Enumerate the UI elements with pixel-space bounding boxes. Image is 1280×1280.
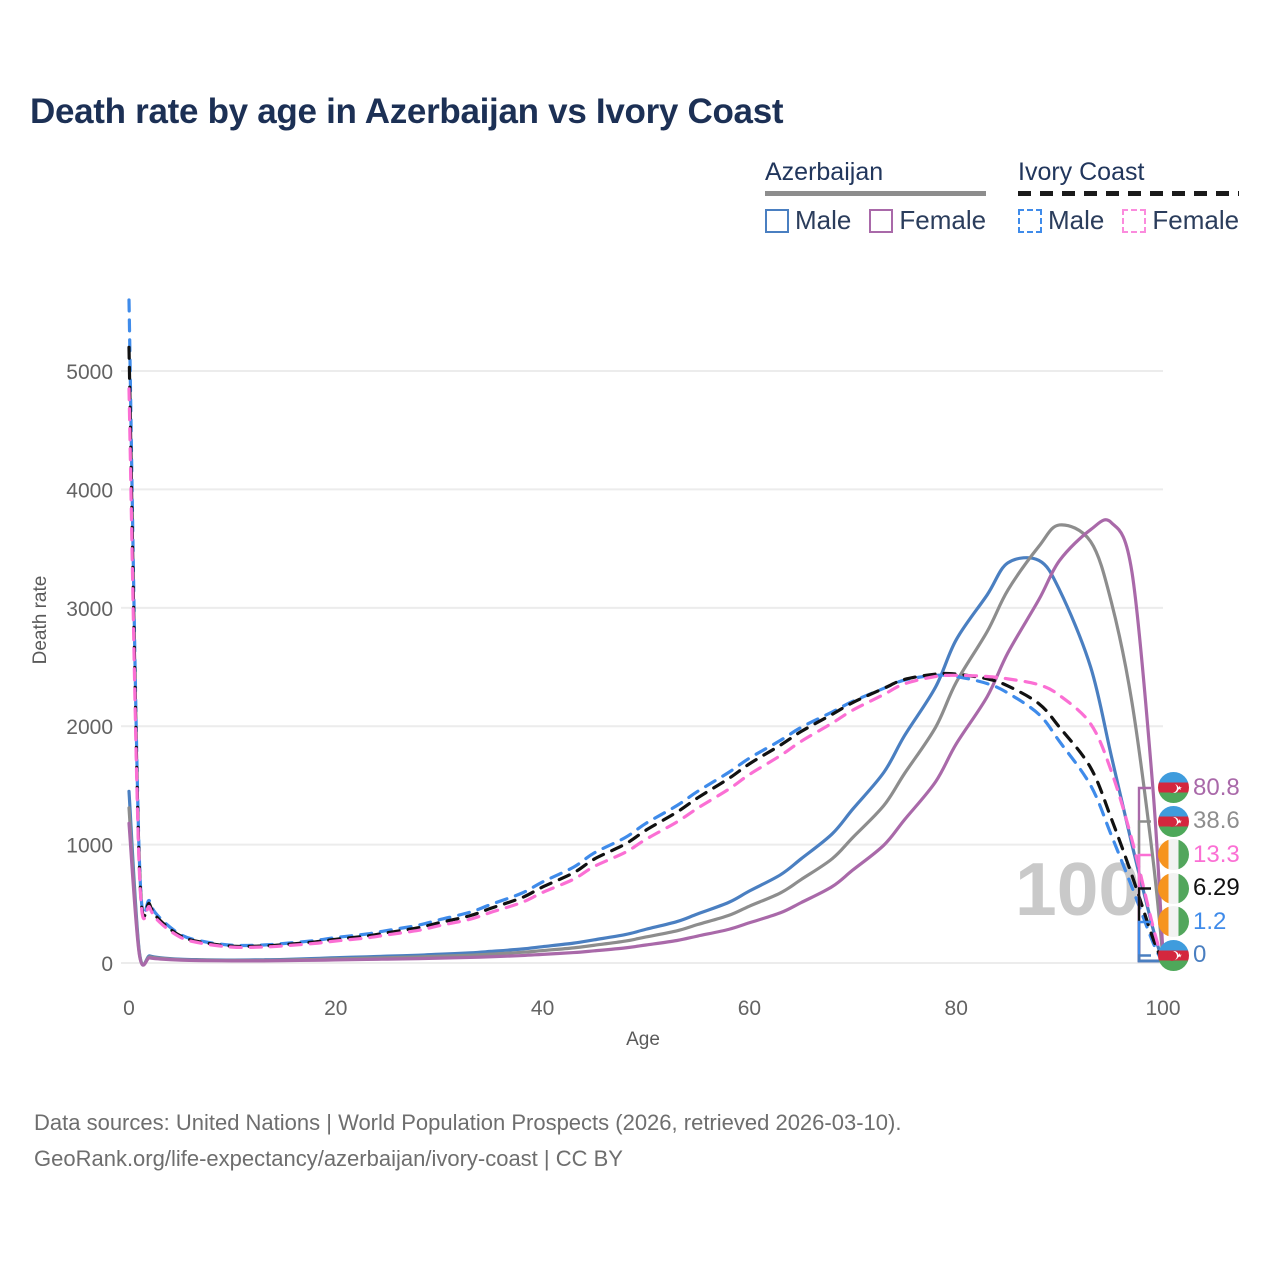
endpoint-value-label: 80.8	[1193, 776, 1240, 800]
endpoint-row: 6.29	[1158, 873, 1240, 904]
endpoint-value-label: 6.29	[1193, 876, 1240, 900]
x-tick-label: 80	[945, 997, 968, 1020]
chart-footer: Data sources: United Nations | World Pop…	[34, 1105, 901, 1178]
ivory-coast-flag-icon	[1158, 906, 1189, 937]
footer-attribution: GeoRank.org/life-expectancy/azerbaijan/i…	[34, 1141, 901, 1177]
ivory-coast-flag-icon	[1158, 873, 1189, 904]
x-tick-label: 60	[738, 997, 761, 1020]
y-tick-label: 5000	[66, 361, 113, 384]
endpoint-row: 0	[1158, 940, 1206, 971]
y-axis-title: Death rate	[30, 576, 51, 665]
endpoint-value-label: 38.6	[1193, 809, 1240, 833]
star-icon	[1177, 953, 1182, 958]
x-axis-title: Age	[626, 1029, 660, 1050]
gridlines	[121, 371, 1163, 963]
azerbaijan-flag-icon	[1158, 806, 1189, 837]
x-tick-label: 40	[531, 997, 554, 1020]
series-line-azerbaijan-total	[129, 525, 1163, 965]
crescent-icon	[1167, 817, 1176, 826]
endpoint-value-label: 13.3	[1193, 843, 1240, 867]
x-tick-label: 100	[1145, 997, 1180, 1020]
series-line-azerbaijan-female	[129, 520, 1163, 965]
data-series-group	[129, 300, 1163, 965]
endpoint-row: 13.3	[1158, 839, 1240, 870]
endpoint-row: 38.6	[1158, 806, 1240, 837]
x-tick-label: 20	[324, 997, 347, 1020]
y-tick-label: 4000	[66, 479, 113, 502]
endpoint-value-label: 1.2	[1193, 910, 1226, 934]
x-tick-label: 0	[123, 997, 135, 1020]
y-tick-label: 2000	[66, 716, 113, 739]
series-line-ivory-coast-female	[129, 389, 1163, 962]
y-axis-ticks: 010002000300040005000	[66, 361, 113, 976]
azerbaijan-flag-icon	[1158, 940, 1189, 971]
endpoint-value-label: 0	[1193, 943, 1206, 967]
star-icon	[1177, 819, 1182, 824]
star-icon	[1177, 786, 1182, 791]
line-chart-svg: 010002000300040005000 020406080100 100 D…	[0, 0, 1280, 1280]
footer-data-sources: Data sources: United Nations | World Pop…	[34, 1105, 901, 1141]
chart-plot-area: 010002000300040005000 020406080100 100 D…	[0, 0, 1280, 1280]
y-tick-label: 3000	[66, 598, 113, 621]
series-line-ivory-coast-male	[129, 300, 1163, 963]
y-tick-label: 0	[101, 953, 113, 976]
crescent-icon	[1167, 951, 1176, 960]
y-tick-label: 1000	[66, 835, 113, 858]
endpoint-row: 1.2	[1158, 906, 1226, 937]
ivory-coast-flag-icon	[1158, 839, 1189, 870]
x-axis-ticks: 020406080100	[123, 997, 1180, 1020]
azerbaijan-flag-icon	[1158, 772, 1189, 803]
crescent-icon	[1167, 784, 1176, 793]
series-line-azerbaijan-male	[129, 558, 1163, 965]
endpoint-annotations: 80.838.613.36.291.20	[1158, 772, 1280, 977]
endpoint-row: 80.8	[1158, 772, 1240, 803]
